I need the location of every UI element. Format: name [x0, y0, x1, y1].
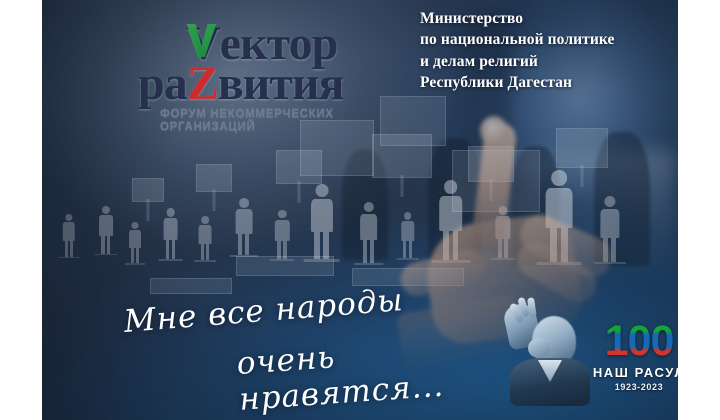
slogan-line-2: очень нравятся...	[235, 328, 505, 418]
anniversary-badge: 100 НАШ РАСУЛ 1923-2023	[587, 320, 678, 398]
portrait-finger	[527, 297, 537, 318]
logo-accent-z: Z	[187, 57, 218, 110]
margin-left	[0, 0, 42, 420]
banner: Vектор раZвития ФОРУМ НЕКОММЕРЧЕСКИХ ОРГ…	[0, 0, 720, 420]
ministry-line-3: и делам религий	[420, 51, 615, 72]
badge-years: 1923-2023	[587, 382, 678, 392]
rasul-gamzatov-portrait	[500, 300, 596, 406]
logo-subtitle-line-2: ОРГАНИЗАЦИЙ	[160, 121, 388, 134]
badge-name: НАШ РАСУЛ	[587, 365, 678, 380]
badge-number: 100	[587, 320, 678, 363]
banner-artwork: Vектор раZвития ФОРУМ НЕКОММЕРЧЕСКИХ ОРГ…	[42, 0, 678, 420]
forum-logo: Vектор раZвития ФОРУМ НЕКОММЕРЧЕСКИХ ОРГ…	[138, 22, 388, 134]
ministry-line-2: по национальной политике	[420, 29, 615, 50]
logo-line-razvitiya: раZвития	[138, 62, 388, 106]
ministry-line-1: Министерство	[420, 8, 615, 29]
logo-subtitle-line-1: ФОРУМ НЕКОММЕРЧЕСКИХ	[160, 108, 388, 121]
logo-text-vitiya: вития	[218, 57, 344, 110]
margin-right	[678, 0, 720, 420]
ministry-title: Министерство по национальной политике и …	[420, 8, 615, 94]
logo-text-ra: ра	[138, 57, 187, 110]
slogan-script: Мне все народы очень нравятся...	[104, 300, 504, 405]
portrait-brow	[528, 338, 550, 358]
logo-subtitle: ФОРУМ НЕКОММЕРЧЕСКИХ ОРГАНИЗАЦИЙ	[160, 108, 388, 134]
ministry-line-4: Республики Дагестан	[420, 72, 615, 93]
